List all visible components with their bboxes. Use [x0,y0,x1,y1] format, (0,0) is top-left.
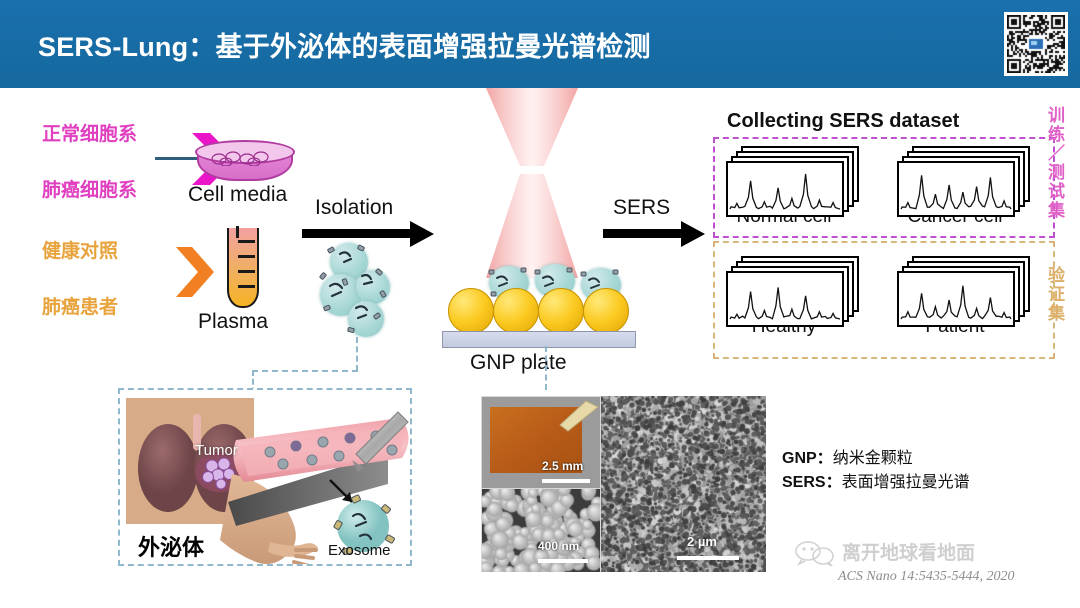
gold-nanoparticle [493,288,539,334]
qr-code-image [1007,15,1065,73]
page-title-cn: 基于外泌体的表面增强拉曼光谱检测 [216,32,651,62]
wechat-icon [794,540,836,566]
sem-inset-bottom-scale-text: 400 nm [538,539,579,553]
caption-gnp-plate: GNP plate [470,351,567,375]
sem-inset-nanoparticles: 400 nm [481,488,601,572]
label-train-test-set: 训练／测试集 [1042,106,1067,234]
label-healthy-control: 健康对照 [42,236,118,263]
gold-nanoparticle [583,288,629,334]
watermark-text: 离开地球看地面 [842,538,975,565]
chevron-arrow-orange [172,244,216,300]
header-bar: SERS-Lung：基于外泌体的表面增强拉曼光谱检测 [0,0,1080,88]
sem-main-scale-text: 2 µm [687,534,717,549]
sem-inset-bottom-scalebar [538,559,588,563]
spectrum-card-layer [726,161,844,217]
tumor-label: Tumor [195,442,238,459]
connector-sem-vertical [545,346,547,390]
legend-key-gnp: GNP： [782,450,833,467]
legend-value-gnp: 纳米金颗粒 [833,450,913,467]
gold-nanoparticle [448,288,494,334]
caption-cell-media: Cell media [188,183,287,207]
label-exosome-en: Exosome [328,542,391,559]
page-title-en: SERS-Lung： [38,32,216,62]
spectrum-trace [899,273,1013,325]
spectra-card-normal-cell[interactable] [726,146,859,217]
sem-inset-top-scale-text: 2.5 mm [542,459,583,473]
label-lung-cancer-patient: 肺癌患者 [42,292,118,319]
dataset-title: Collecting SERS dataset [727,110,959,133]
spectrum-card-layer [897,161,1015,217]
sem-inset-photograph: 2.5 mm [481,396,601,490]
spectra-card-cancer-cell[interactable] [897,146,1030,217]
qr-code[interactable] [1004,12,1068,76]
label-validation-set: 验证集 [1042,266,1067,352]
spectra-card-patient[interactable] [897,256,1030,327]
sem-main-scalebar [677,556,739,560]
exosome-illustration-panel: Tumor 外泌体 Exosome [118,388,412,566]
spectra-card-healthy[interactable] [726,256,859,327]
spectrum-trace [728,163,842,215]
exosome-cluster-detail [316,240,398,344]
label-exosome-cn: 外泌体 [138,530,204,562]
connector-exosome-vertical [356,337,358,371]
legend-value-sers: 表面增强拉曼光谱 [842,474,970,491]
sem-inset-top-scalebar [542,479,590,483]
abbreviation-legend: GNP：纳米金颗粒 SERS：表面增强拉曼光谱 [782,447,970,495]
legend-row-gnp: GNP：纳米金颗粒 [782,447,970,471]
label-sers: SERS [613,196,670,220]
label-normal-cell-line: 正常细胞系 [42,119,137,146]
sem-image-panel: 2.5 mm 400 nm 2 µm [481,396,766,572]
label-cancer-cell-line: 肺癌细胞系 [42,175,137,202]
legend-key-sers: SERS： [782,474,842,491]
laser-beam-icon [478,88,586,278]
spectrum-trace [899,163,1013,215]
page-title: SERS-Lung：基于外泌体的表面增强拉曼光谱检测 [38,25,651,64]
label-isolation: Isolation [315,196,393,220]
spectrum-card-layer [897,271,1015,327]
citation-text: ACS Nano 14:5435-5444, 2020 [838,569,1015,585]
gold-nanoparticle [538,288,584,334]
substrate-plate [442,331,636,348]
cells-icon [210,150,276,166]
diagram-canvas: 正常细胞系 肺癌细胞系 健康对照 肺癌患者 Cell media Plasma … [0,88,1080,608]
spectrum-card-layer [726,271,844,327]
connector-exosome-horizontal [252,370,358,372]
spectrum-trace [728,273,842,325]
tweezer-icon [556,399,600,433]
caption-plasma: Plasma [198,310,268,334]
legend-row-sers: SERS：表面增强拉曼光谱 [782,471,970,495]
